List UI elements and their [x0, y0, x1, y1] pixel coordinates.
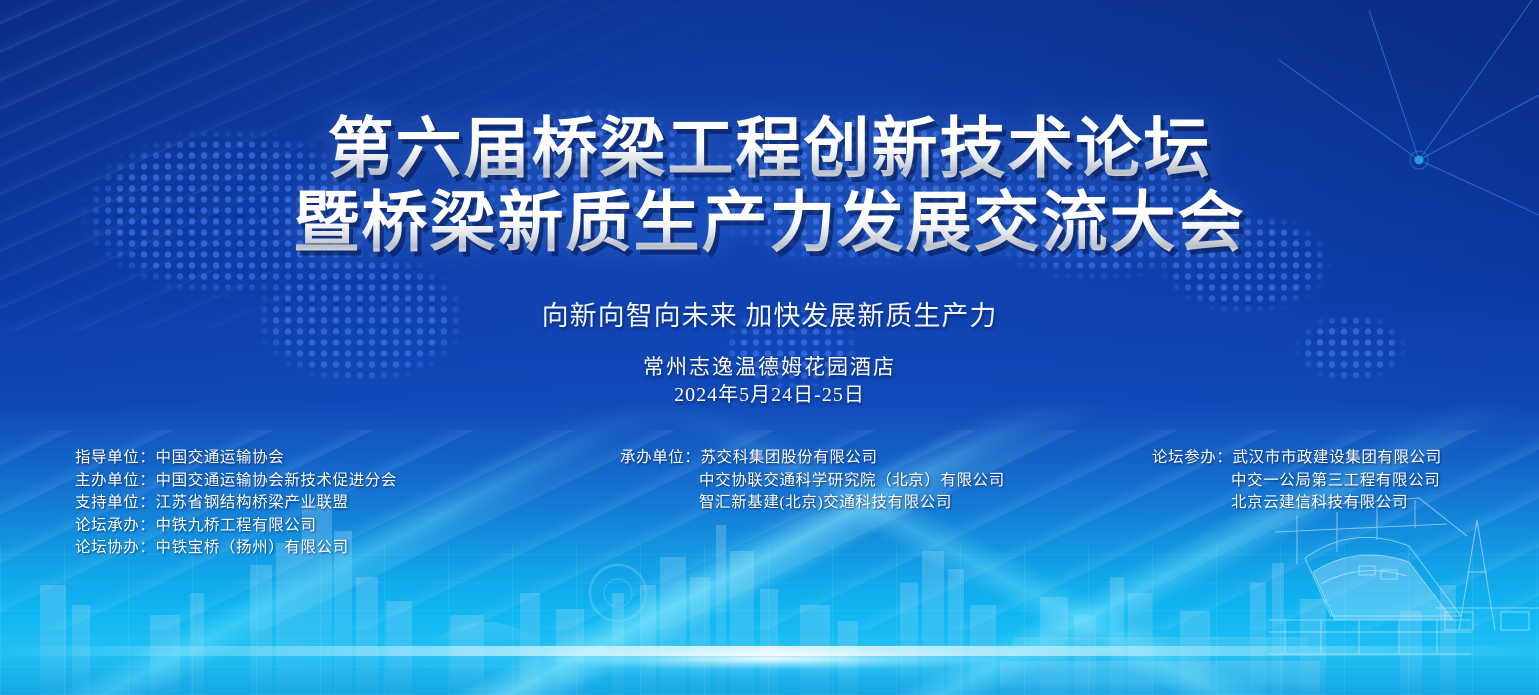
organizer-value: 武汉市市政建设集团有限公司	[1233, 449, 1442, 466]
organizer-row: 论坛参办：武汉市市政建设集团有限公司	[1152, 447, 1442, 470]
organizer-label: 主办单位：	[75, 470, 156, 493]
organizer-label: 论坛协办：	[75, 537, 156, 560]
organizer-value: 中国交通运输协会	[156, 449, 285, 466]
organizer-row: 主办单位：中国交通运输协会新技术促进分会	[75, 470, 397, 493]
organizer-value: 中交一公局第三工程有限公司	[1231, 472, 1440, 489]
organizer-label: 支持单位：	[75, 492, 156, 515]
title-block: 第六届桥梁工程创新技术论坛 暨桥梁新质生产力发展交流大会	[0, 112, 1539, 260]
organizer-row: 指导单位：中国交通运输协会	[75, 447, 397, 470]
organizer-label: 指导单位：	[75, 447, 156, 470]
organizer-row: 论坛协办：中铁宝桥（扬州）有限公司	[75, 537, 397, 560]
organizer-column-right: 论坛参办：武汉市市政建设集团有限公司 中交一公局第三工程有限公司 北京云建信科技…	[1152, 447, 1442, 515]
organizer-row: 中交一公局第三工程有限公司	[1152, 470, 1442, 493]
organizer-value: 江苏省钢结构桥梁产业联盟	[156, 494, 349, 511]
organizer-column-left: 指导单位：中国交通运输协会 主办单位：中国交通运输协会新技术促进分会 支持单位：…	[75, 447, 397, 560]
organizer-row: 北京云建信科技有限公司	[1152, 492, 1442, 515]
organizer-value: 智汇新基建(北京)交通科技有限公司	[699, 494, 952, 511]
organizer-label: 承办单位：	[620, 447, 701, 470]
organizer-label: 论坛参办：	[1152, 447, 1233, 470]
organizer-value: 中国交通运输协会新技术促进分会	[156, 472, 398, 489]
conference-banner: 第六届桥梁工程创新技术论坛 暨桥梁新质生产力发展交流大会 向新向智向未来 加快发…	[0, 0, 1539, 695]
title-line-1: 第六届桥梁工程创新技术论坛	[0, 112, 1539, 186]
organizer-label: 论坛承办：	[75, 515, 156, 538]
organizer-value: 中交协联交通科学研究院（北京）有限公司	[699, 472, 1005, 489]
organizer-row: 智汇新基建(北京)交通科技有限公司	[620, 492, 1005, 515]
event-dates: 2024年5月24日-25日	[0, 378, 1539, 407]
organizer-row: 支持单位：江苏省钢结构桥梁产业联盟	[75, 492, 397, 515]
organizer-value: 中铁宝桥（扬州）有限公司	[156, 539, 349, 556]
venue-name: 常州志逸温德姆花园酒店	[0, 351, 1539, 381]
organizer-row: 论坛承办：中铁九桥工程有限公司	[75, 515, 397, 538]
organizer-value: 中铁九桥工程有限公司	[156, 517, 317, 534]
organizer-row: 承办单位：苏交科集团股份有限公司	[620, 447, 1005, 470]
title-line-2: 暨桥梁新质生产力发展交流大会	[0, 186, 1539, 260]
organizer-value: 北京云建信科技有限公司	[1231, 494, 1408, 511]
organizer-row: 中交协联交通科学研究院（北京）有限公司	[620, 470, 1005, 493]
organizer-column-middle: 承办单位：苏交科集团股份有限公司 中交协联交通科学研究院（北京）有限公司 智汇新…	[620, 447, 1005, 515]
subtitle: 向新向智向未来 加快发展新质生产力	[0, 294, 1539, 333]
organizer-value: 苏交科集团股份有限公司	[701, 449, 878, 466]
